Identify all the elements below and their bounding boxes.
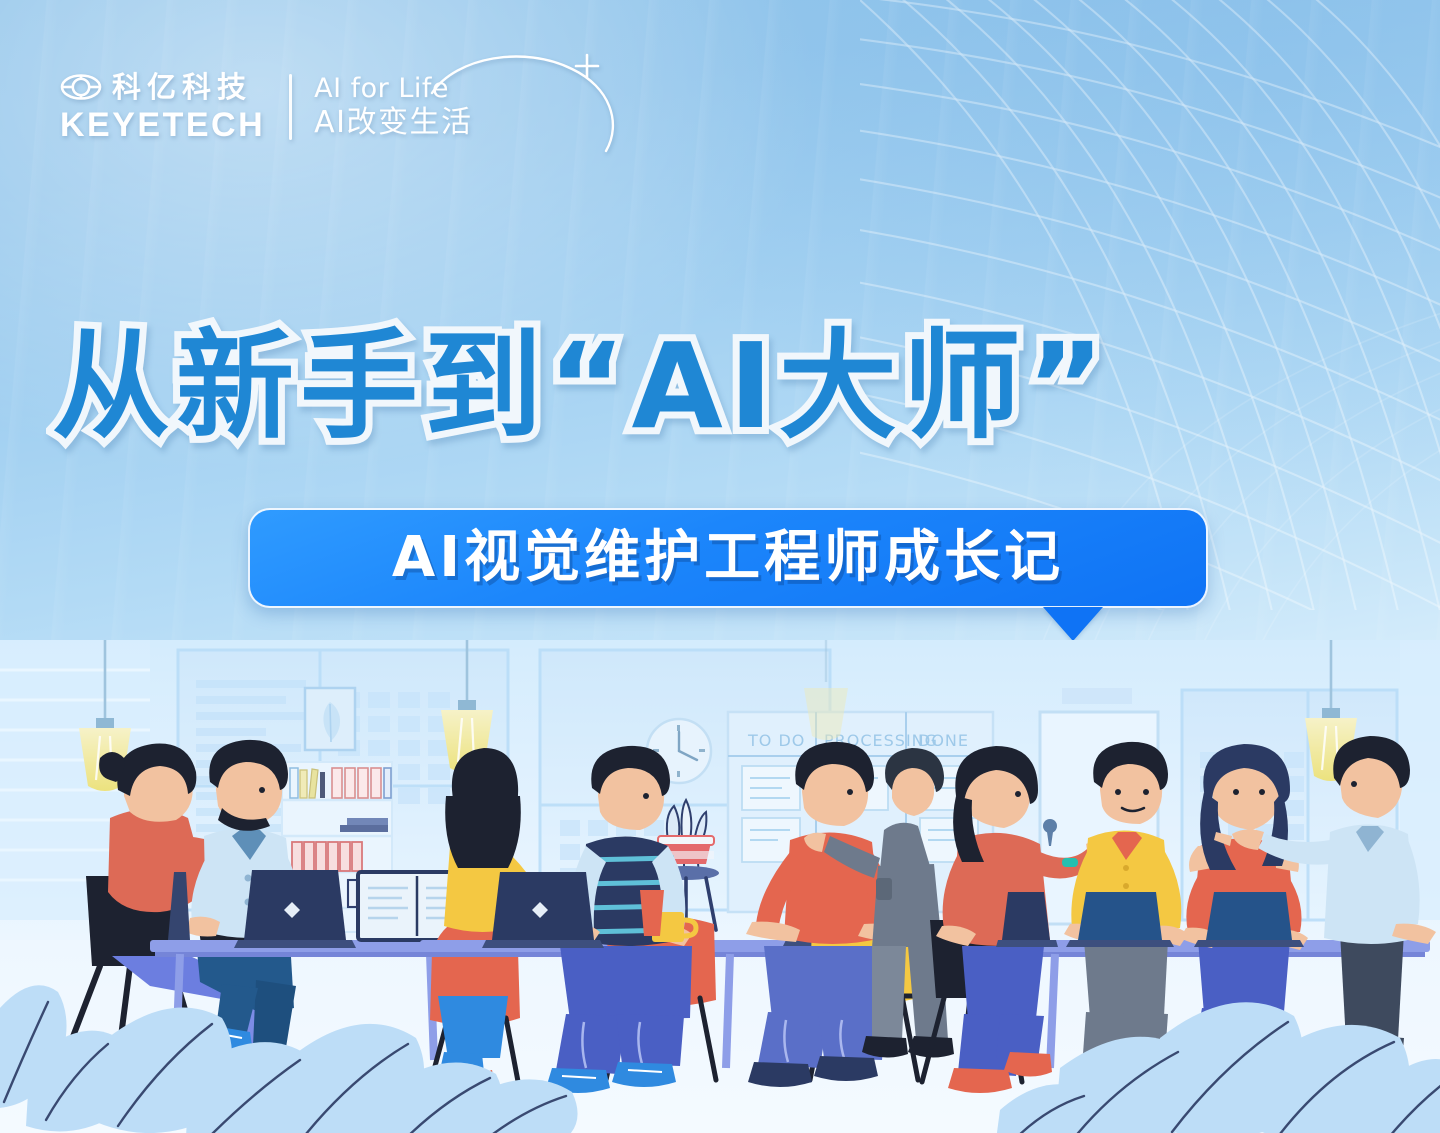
- brand-name-en: KEYETECH: [60, 108, 265, 142]
- page-title: 从新手到“AI大师”: [52, 327, 1110, 445]
- banner-pointer-icon: [1043, 607, 1103, 641]
- poster-canvas: 科亿科技 KEYETECH AI for Life AI改变生活 从新手到“AI…: [0, 0, 1440, 1133]
- brand-name-block: 科亿科技 KEYETECH: [60, 72, 265, 142]
- logo-divider: [289, 74, 292, 140]
- swoosh-arc-icon: [426, 51, 646, 161]
- eye-icon: [60, 72, 102, 102]
- laptop-center: [482, 872, 604, 948]
- subtitle-banner-wrapper: AI视觉维护工程师成长记: [248, 508, 1208, 608]
- brand-logo: 科亿科技 KEYETECH AI for Life AI改变生活: [60, 72, 473, 142]
- office-scene-svg: TO DO PROCESSING DONE: [0, 640, 1440, 1133]
- kanban-column-todo: TO DO: [747, 731, 805, 750]
- brand-tagline-block: AI for Life AI改变生活: [314, 75, 472, 139]
- office-illustration: TO DO PROCESSING DONE: [0, 640, 1440, 1133]
- laptop-dark-left: [234, 870, 356, 948]
- brand-name-cn: 科亿科技: [112, 73, 252, 102]
- subtitle-banner: AI视觉维护工程师成长记: [248, 508, 1208, 608]
- subtitle-text: AI视觉维护工程师成长记: [392, 530, 1064, 586]
- kanban-column-done: DONE: [918, 731, 969, 750]
